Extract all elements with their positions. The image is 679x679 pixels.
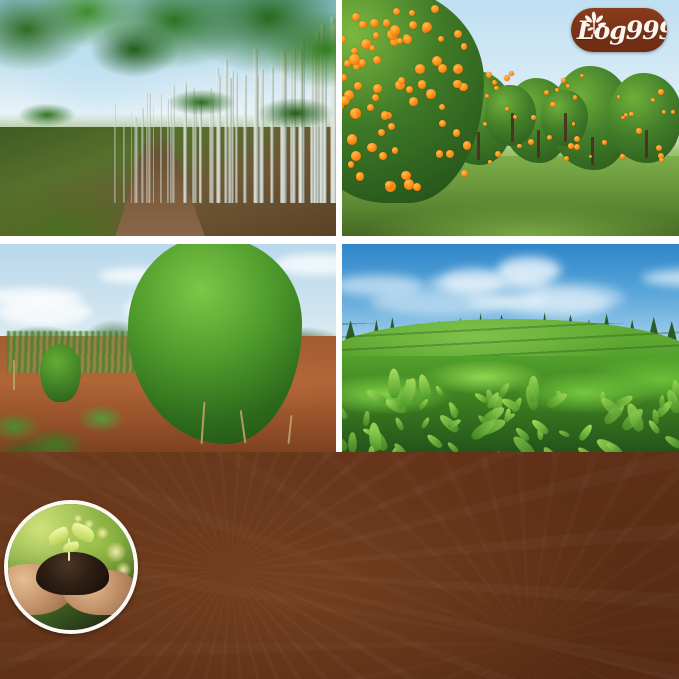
orange-fruit (531, 115, 536, 120)
orange-fruit (624, 113, 628, 117)
orange-fruit (406, 86, 413, 93)
tea-leaf (528, 376, 539, 402)
orange-fruit (388, 123, 395, 130)
orange-fruit (620, 154, 624, 158)
orange-fruit (381, 111, 389, 119)
orange-fruit (351, 48, 357, 54)
orange-fruit (602, 140, 607, 145)
orange-fruit (356, 172, 365, 181)
orange-fruit (370, 19, 379, 28)
brand-logo-text: Log999 (577, 17, 667, 45)
orange-fruit (658, 89, 663, 94)
orange-fruit (439, 104, 445, 110)
soil-mound (36, 552, 109, 595)
orange-fruit (348, 161, 354, 167)
orange-fruit (568, 143, 573, 148)
tree-trunk (537, 130, 540, 158)
orange-fruit (401, 171, 410, 180)
orange-fruit (513, 115, 517, 119)
tree-trunk (564, 113, 567, 141)
orange-fruit (349, 54, 360, 65)
orange-fruit (390, 25, 400, 35)
orange-fruit (505, 107, 509, 111)
orange-fruit (352, 112, 359, 119)
cloud (497, 257, 561, 285)
orange-fruit (415, 64, 425, 74)
infographic-canvas: Log999 (0, 0, 679, 679)
photo-collage: Log999 (0, 0, 679, 452)
orange-fruit (359, 21, 367, 29)
orange-fruit (383, 19, 390, 26)
orange-fruit (438, 64, 447, 73)
photo-cinnamon-plantation (0, 0, 336, 236)
bokeh-light (96, 527, 109, 540)
orange-fruit (422, 22, 432, 32)
info-banner: HOW WE GROW OUR INGREDIENTS We grow cinn… (0, 452, 679, 679)
tree-trunk (477, 132, 480, 160)
orange-fruit (561, 78, 566, 83)
orange-fruit (453, 129, 461, 137)
orange-fruit (486, 72, 492, 78)
orange-fruit (547, 135, 552, 140)
orange-fruit (488, 160, 492, 164)
orange-fruit (550, 102, 556, 108)
orange-fruit (367, 104, 374, 111)
orange-fruit (453, 64, 463, 74)
young-tree-small (40, 344, 80, 402)
cloud (371, 289, 510, 315)
orange-fruit (351, 151, 361, 161)
orange-fruit (495, 151, 501, 157)
orange-fruit (409, 97, 418, 106)
orange-fruit (656, 145, 662, 151)
orange-fruit (409, 21, 417, 29)
orange-fruit (398, 77, 405, 84)
orange-fruit (431, 5, 439, 13)
orange-fruit (671, 110, 675, 114)
orange-fruit (453, 80, 461, 88)
orange-fruit (426, 89, 435, 98)
orange-fruit (573, 95, 578, 100)
tea-leaf (348, 433, 357, 452)
support-stake (13, 360, 15, 389)
orange-fruit (361, 39, 371, 49)
brand-logo-badge[interactable]: Log999 (571, 8, 667, 52)
orange-fruit (413, 183, 421, 191)
orange-fruit (636, 128, 641, 133)
seedling-circle-image (4, 500, 138, 634)
orange-fruit (544, 90, 549, 95)
orange-fruit (373, 32, 379, 38)
photo-tea-plantation (342, 244, 679, 452)
canopy-lower (0, 61, 336, 151)
tree-trunk (591, 137, 594, 165)
orange-fruit (373, 84, 382, 93)
photo-clove-tree-field (0, 244, 336, 452)
orange-fruit (463, 141, 471, 149)
orange-fruit (564, 156, 569, 161)
tree-trunk (645, 130, 648, 158)
orange-tree (608, 73, 679, 163)
photo-orange-orchard: Log999 (342, 0, 679, 236)
orange-fruit (439, 120, 446, 127)
orange-fruit (354, 82, 362, 90)
orange-fruit (352, 13, 360, 21)
orange-fruit (494, 86, 498, 90)
